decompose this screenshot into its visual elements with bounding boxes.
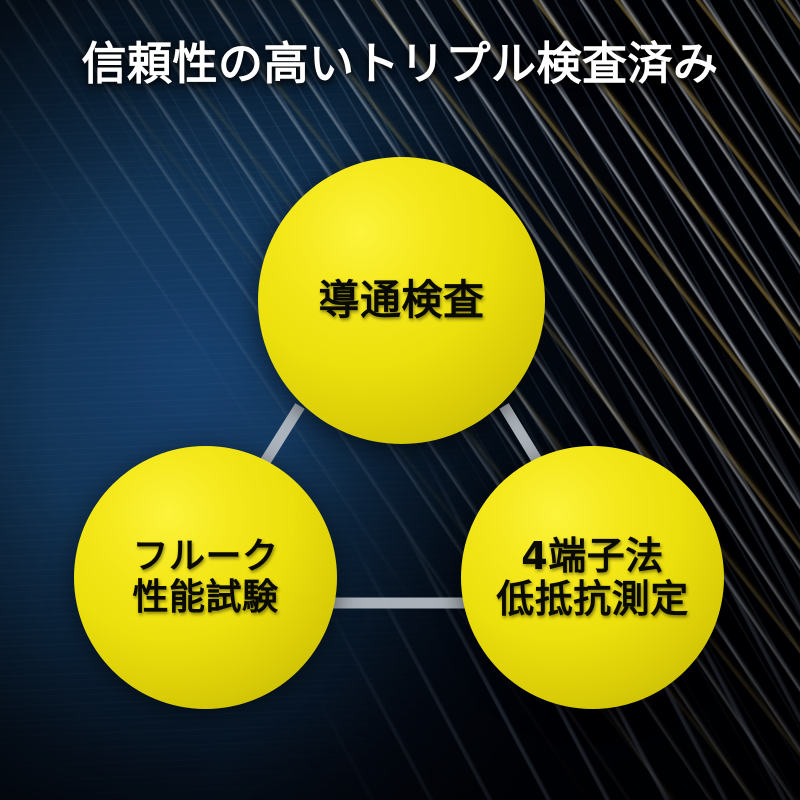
node-four-terminal-resistance-measurement-label: 4端子法 低抵抗測定: [488, 535, 697, 620]
node-fluke-performance-test-line-1: フルーク: [132, 537, 278, 577]
node-continuity-test-label: 導通検査: [311, 278, 493, 324]
infographic-canvas: 信頼性の高いトリプル検査済み 導通検査 フルーク 性能試験 4端子法 低抵抗測定: [0, 0, 800, 800]
node-continuity-test[interactable]: 導通検査: [258, 157, 545, 444]
node-four-terminal-resistance-measurement[interactable]: 4端子法 低抵抗測定: [461, 446, 724, 709]
node-fluke-performance-test-label: フルーク 性能試験: [124, 537, 286, 618]
node-fluke-performance-test-line-2: 性能試験: [132, 578, 278, 618]
node-four-terminal-resistance-measurement-line-1: 4端子法: [496, 535, 689, 578]
page-title: 信頼性の高いトリプル検査済み: [0, 38, 800, 90]
node-four-terminal-resistance-measurement-line-2: 低抵抗測定: [496, 578, 689, 621]
node-fluke-performance-test[interactable]: フルーク 性能試験: [74, 446, 337, 709]
node-continuity-test-line-1: 導通検査: [319, 278, 485, 324]
